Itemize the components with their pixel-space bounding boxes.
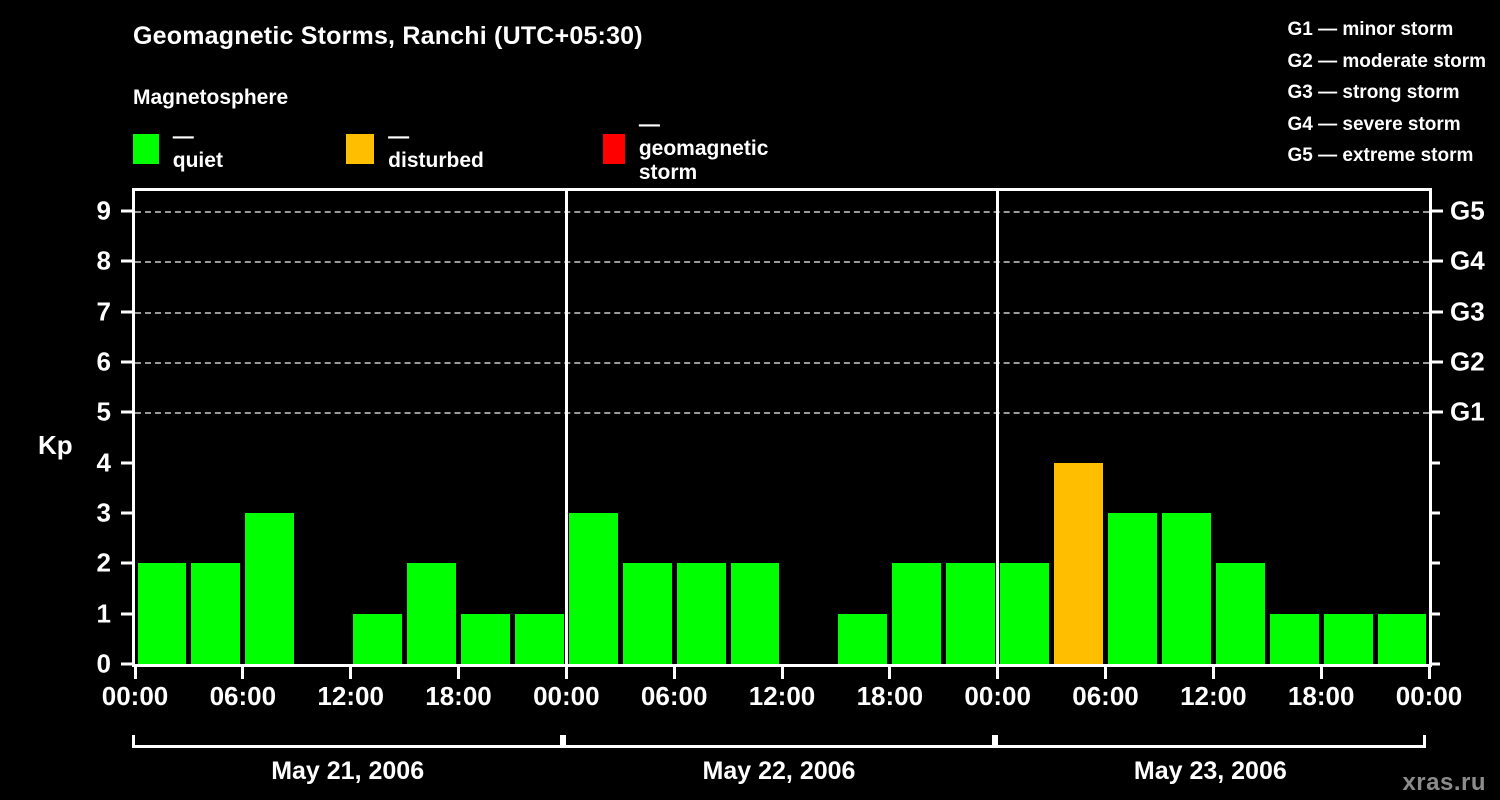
bar[interactable] (138, 563, 187, 664)
gridline-kp-9 (135, 211, 1429, 213)
gridline-kp-6 (135, 362, 1429, 364)
right-axis-minor-tick-kp-1 (1432, 612, 1440, 615)
bar[interactable] (946, 563, 995, 664)
bar[interactable] (245, 513, 294, 664)
x-axis-label-5: 06:00 (641, 681, 708, 712)
bar[interactable] (515, 614, 564, 664)
x-axis-tick-12 (1428, 667, 1431, 679)
gscale-legend-line-2: G2 — moderate storm (1288, 46, 1487, 78)
x-axis-tick-0 (134, 667, 137, 679)
plot-area (132, 188, 1432, 667)
x-axis-label-11: 18:00 (1288, 681, 1355, 712)
bar[interactable] (1216, 563, 1265, 664)
x-axis-label-3: 18:00 (425, 681, 492, 712)
gscale-legend: G1 — minor stormG2 — moderate stormG3 — … (1288, 14, 1487, 172)
x-axis-tick-8 (996, 667, 999, 679)
right-axis-tick-G4 (1432, 260, 1443, 263)
gridline-kp-7 (135, 312, 1429, 314)
y-axis-tick-5 (121, 411, 132, 414)
bar[interactable] (1324, 614, 1373, 664)
bar[interactable] (1108, 513, 1157, 664)
right-axis-tick-G5 (1432, 210, 1443, 213)
right-axis-tick-G2 (1432, 361, 1443, 364)
x-axis-tick-1 (241, 667, 244, 679)
y-axis-tick-9 (121, 210, 132, 213)
right-axis-minor-tick-kp-4 (1432, 461, 1440, 464)
x-axis-tick-3 (457, 667, 460, 679)
gridline-kp-8 (135, 261, 1429, 263)
page-title: Geomagnetic Storms, Ranchi (UTC+05:30) (133, 22, 643, 51)
right-axis-label-G1: G1 (1450, 397, 1485, 428)
date-label-3: May 23, 2006 (1134, 757, 1287, 786)
bar[interactable] (1000, 563, 1049, 664)
gscale-legend-line-3: G3 — strong storm (1288, 77, 1487, 109)
x-axis-label-0: 00:00 (102, 681, 169, 712)
y-axis-tick-4 (121, 461, 132, 464)
legend-label-geomagnetic-storm: — geomagnetic storm (639, 113, 781, 185)
chart-root: Geomagnetic Storms, Ranchi (UTC+05:30) M… (0, 0, 1500, 800)
date-axis: May 21, 2006May 22, 2006May 23, 2006 (132, 735, 1432, 797)
x-axis-tick-11 (1320, 667, 1323, 679)
y-axis-tick-0 (121, 663, 132, 666)
bar[interactable] (569, 513, 618, 664)
right-axis-tick-G3 (1432, 310, 1443, 313)
bar[interactable] (677, 563, 726, 664)
gscale-legend-line-5: G5 — extreme storm (1288, 140, 1487, 172)
plot-inner (135, 191, 1429, 664)
y-axis-label-7: 7 (67, 296, 111, 327)
right-axis-label-G5: G5 (1450, 196, 1485, 227)
bar[interactable] (461, 614, 510, 664)
y-axis-label-3: 3 (67, 498, 111, 529)
y-axis-tick-2 (121, 562, 132, 565)
day-separator-1 (565, 191, 568, 664)
gscale-legend-line-1: G1 — minor storm (1288, 14, 1487, 46)
date-bracket-1 (132, 735, 563, 748)
bar[interactable] (623, 563, 672, 664)
right-axis-tick-G1 (1432, 411, 1443, 414)
bar[interactable] (191, 563, 240, 664)
y-axis-label-4: 4 (67, 447, 111, 478)
bar[interactable] (838, 614, 887, 664)
legend-item-geomagnetic-storm: — geomagnetic storm (603, 133, 781, 165)
x-axis-tick-2 (349, 667, 352, 679)
legend-label-disturbed: — disturbed (388, 125, 490, 173)
x-axis-tick-9 (1104, 667, 1107, 679)
y-axis-label-8: 8 (67, 246, 111, 277)
y-axis-label-0: 0 (67, 649, 111, 680)
y-axis-label-9: 9 (67, 196, 111, 227)
day-separator-2 (996, 191, 999, 664)
x-axis-label-2: 12:00 (317, 681, 384, 712)
legend-label-quiet: — quiet (173, 125, 231, 173)
x-axis-label-7: 18:00 (857, 681, 924, 712)
x-axis-label-12: 00:00 (1396, 681, 1463, 712)
bar[interactable] (353, 614, 402, 664)
gscale-legend-line-4: G4 — severe storm (1288, 109, 1487, 141)
x-axis-label-9: 06:00 (1072, 681, 1139, 712)
x-axis-tick-4 (565, 667, 568, 679)
y-axis-tick-7 (121, 310, 132, 313)
legend-swatch-quiet-icon (133, 134, 159, 164)
bar[interactable] (731, 563, 780, 664)
x-axis-label-4: 00:00 (533, 681, 600, 712)
y-axis-tick-6 (121, 361, 132, 364)
x-axis-tick-10 (1212, 667, 1215, 679)
bar[interactable] (892, 563, 941, 664)
y-axis-tick-1 (121, 612, 132, 615)
date-label-1: May 21, 2006 (271, 757, 424, 786)
bar[interactable] (1270, 614, 1319, 664)
bar[interactable] (407, 563, 456, 664)
bar[interactable] (1054, 463, 1103, 664)
y-axis-label-6: 6 (67, 347, 111, 378)
date-bracket-3 (995, 735, 1426, 748)
x-axis-tick-7 (888, 667, 891, 679)
legend-swatch-disturbed-icon (346, 134, 374, 164)
bar[interactable] (1378, 614, 1427, 664)
y-axis-label-2: 2 (67, 548, 111, 579)
x-axis-tick-5 (673, 667, 676, 679)
right-axis-minor-tick-kp-2 (1432, 562, 1440, 565)
legend-heading: Magnetosphere (133, 86, 288, 110)
y-axis-tick-8 (121, 260, 132, 263)
right-axis-label-G2: G2 (1450, 347, 1485, 378)
x-axis-label-8: 00:00 (964, 681, 1031, 712)
x-axis-label-6: 12:00 (749, 681, 816, 712)
bar[interactable] (1162, 513, 1211, 664)
gridline-kp-5 (135, 412, 1429, 414)
right-axis-label-G4: G4 (1450, 246, 1485, 277)
x-axis-tick-6 (781, 667, 784, 679)
date-bracket-2 (563, 735, 994, 748)
x-axis-label-1: 06:00 (210, 681, 277, 712)
right-axis-minor-tick-kp-3 (1432, 512, 1440, 515)
date-label-2: May 22, 2006 (703, 757, 856, 786)
legend-swatch-geomagnetic-storm-icon (603, 134, 625, 164)
y-axis-label-5: 5 (67, 397, 111, 428)
right-axis-label-G3: G3 (1450, 296, 1485, 327)
x-axis-label-10: 12:00 (1180, 681, 1247, 712)
legend-item-disturbed: — disturbed (346, 133, 490, 165)
watermark: xras.ru (1402, 769, 1486, 797)
y-axis-label-1: 1 (67, 598, 111, 629)
legend-item-quiet: — quiet (133, 133, 231, 165)
y-axis-tick-3 (121, 512, 132, 515)
right-axis-minor-tick-kp-0 (1432, 663, 1440, 666)
